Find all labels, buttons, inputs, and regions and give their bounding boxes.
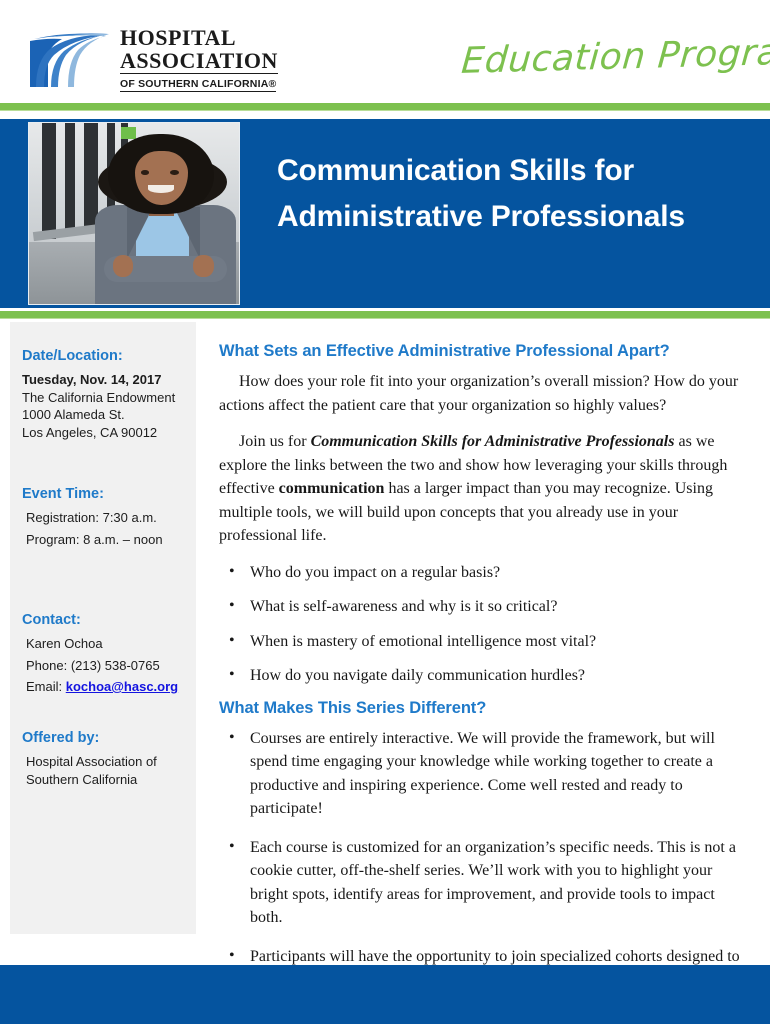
list-item: What is self-awareness and why is it so … — [219, 595, 747, 619]
list-item: Each course is customized for an organiz… — [219, 836, 747, 930]
sidebar-contact: Contact: Karen Ochoa Phone: (213) 538-07… — [22, 612, 192, 696]
person-eye-right — [170, 170, 179, 175]
contact-phone: Phone: (213) 538-0765 — [22, 657, 192, 675]
green-divider-top-thin — [0, 110, 770, 111]
hasc-swoosh-icon — [28, 29, 110, 89]
course-title: Communication Skills for Administrative … — [277, 148, 747, 240]
offered-by-line1: Hospital Association of — [22, 753, 192, 771]
person-lapel-right — [174, 207, 200, 259]
main-content: What Sets an Effective Administrative Pr… — [219, 342, 747, 1030]
contact-name: Karen Ochoa — [22, 635, 192, 653]
offered-by-line2: Southern California — [22, 771, 192, 789]
section-1-paragraph-2: Join us for Communication Skills for Adm… — [219, 430, 747, 548]
photo-person — [92, 134, 239, 304]
green-divider-top — [0, 103, 770, 110]
course-title-line2: Administrative Professionals — [277, 194, 747, 240]
green-divider-middle-thin — [0, 318, 770, 319]
contact-heading: Contact: — [22, 612, 192, 628]
date-location-heading: Date/Location: — [22, 348, 192, 364]
education-program-label: Education Program — [460, 31, 770, 82]
contact-email-row: Email: kochoa@hasc.org — [22, 678, 192, 696]
registration-time: Registration: 7:30 a.m. — [22, 509, 192, 527]
program-time: Program: 8 a.m. – noon — [22, 531, 192, 549]
list-item: Courses are entirely interactive. We wil… — [219, 727, 747, 821]
photo-column — [65, 123, 76, 235]
logo-line-region: OF SOUTHERN CALIFORNIA® — [120, 78, 276, 92]
event-date: Tuesday, Nov. 14, 2017 — [22, 371, 192, 389]
para2-emphasis: communication — [279, 480, 385, 497]
section-1-paragraph-1: How does your role fit into your organiz… — [219, 370, 747, 417]
page-header: HOSPITAL ASSOCIATION OF SOUTHERN CALIFOR… — [0, 0, 770, 103]
logo-divider — [120, 73, 278, 74]
hasc-logo: HOSPITAL ASSOCIATION OF SOUTHERN CALIFOR… — [28, 28, 318, 90]
email-label: Email: — [26, 679, 66, 694]
list-item: How do you navigate daily communication … — [219, 664, 747, 688]
contact-email-link[interactable]: kochoa@hasc.org — [66, 679, 178, 694]
list-item: When is mastery of emotional intelligenc… — [219, 630, 747, 654]
logo-line-hospital: HOSPITAL — [120, 26, 278, 49]
sidebar-event-time: Event Time: Registration: 7:30 a.m. Prog… — [22, 486, 192, 548]
footer-bar — [0, 965, 770, 1024]
logo-line-association: ASSOCIATION — [120, 49, 278, 72]
photo-column — [42, 123, 57, 239]
person-hand-left — [113, 255, 134, 277]
para2-course-name: Communication Skills for Administrative … — [311, 433, 675, 450]
event-street: 1000 Alameda St. — [22, 406, 192, 424]
event-venue: The California Endowment — [22, 389, 192, 407]
person-hand-right — [193, 255, 214, 277]
section-1-heading: What Sets an Effective Administrative Pr… — [219, 342, 747, 361]
person-eye-left — [141, 170, 150, 175]
course-title-line1: Communication Skills for — [277, 148, 747, 194]
green-divider-middle — [0, 311, 770, 318]
hasc-logo-text: HOSPITAL ASSOCIATION OF SOUTHERN CALIFOR… — [120, 26, 278, 92]
event-city: Los Angeles, CA 90012 — [22, 424, 192, 442]
sidebar-date-location: Date/Location: Tuesday, Nov. 14, 2017 Th… — [22, 348, 192, 441]
event-time-heading: Event Time: — [22, 486, 192, 502]
section-1-bullet-list: Who do you impact on a regular basis? Wh… — [219, 561, 747, 688]
section-2-heading: What Makes This Series Different? — [219, 699, 747, 718]
offered-by-heading: Offered by: — [22, 730, 192, 746]
list-item: Who do you impact on a regular basis? — [219, 561, 747, 585]
banner-photo — [28, 122, 240, 305]
para2-pre: Join us for — [239, 433, 311, 450]
info-sidebar: Date/Location: Tuesday, Nov. 14, 2017 Th… — [10, 322, 196, 934]
sidebar-offered-by: Offered by: Hospital Association of Sout… — [22, 730, 192, 788]
